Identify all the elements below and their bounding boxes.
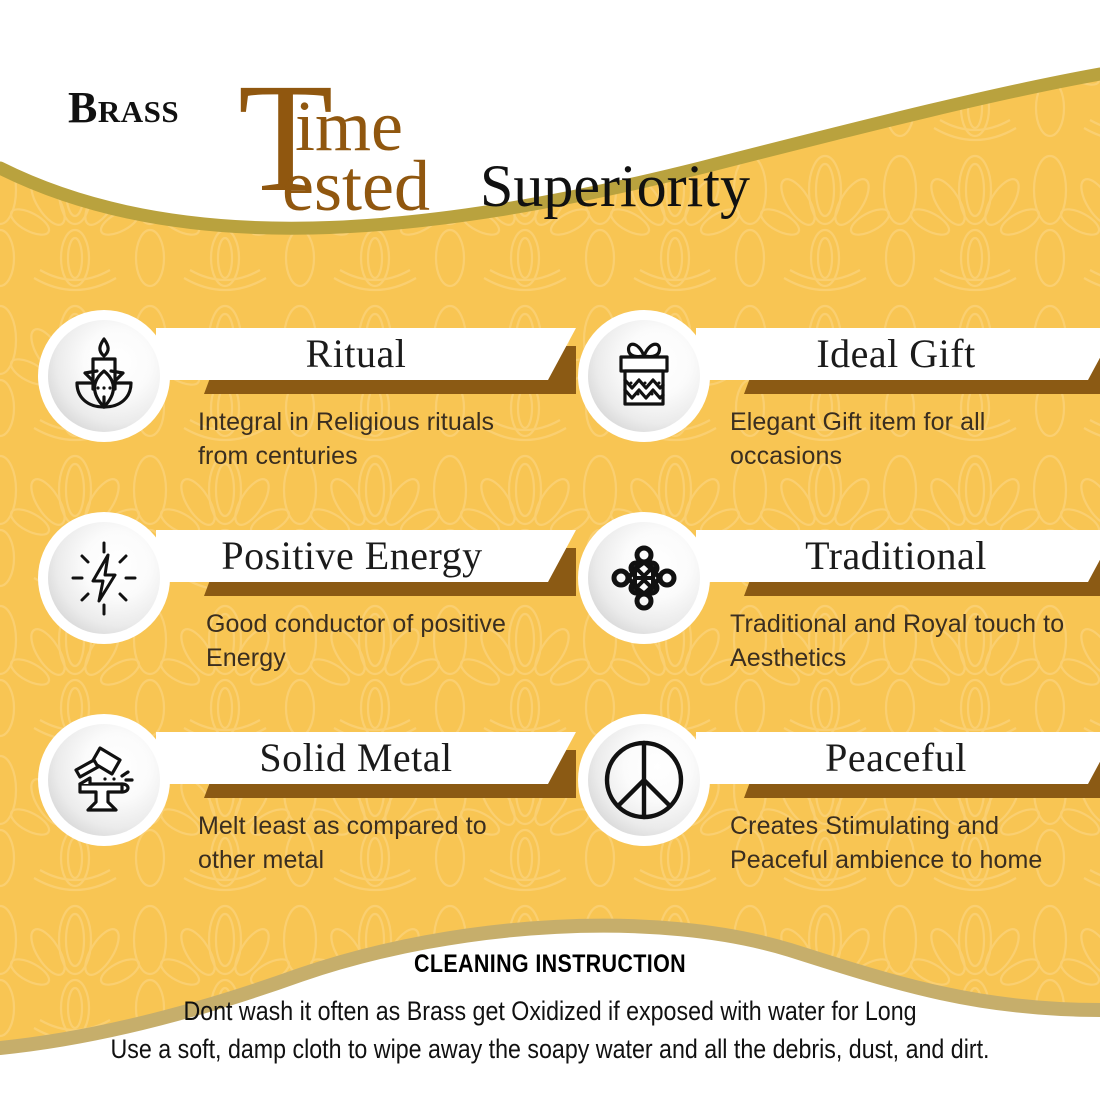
card-title: Positive Energy	[162, 528, 542, 582]
candle-lotus-icon	[48, 320, 160, 432]
banner-solid-metal: Solid Metal	[156, 732, 576, 806]
banner-traditional: Traditional	[696, 530, 1100, 604]
peace-symbol-icon	[588, 724, 700, 836]
title-word-brass: Brass	[68, 86, 179, 130]
endless-knot-icon	[588, 522, 700, 634]
card-title: Peaceful	[706, 730, 1086, 784]
cleaning-instruction-section: CLEANING INSTRUCTION Dont wash it often …	[0, 950, 1100, 1100]
lightning-bolt-icon	[48, 522, 160, 634]
cleaning-instruction-heading: CLEANING INSTRUCTION	[77, 950, 1023, 979]
banner-ritual: Ritual	[156, 328, 576, 402]
icon-badge	[578, 512, 710, 644]
icon-badge	[578, 310, 710, 442]
infographic-canvas: Brass T ime ested Superiority Ritual	[0, 0, 1100, 1100]
gift-box-icon	[588, 320, 700, 432]
hammer-anvil-icon	[48, 724, 160, 836]
card-description: Melt least as compared to other metal	[198, 810, 548, 877]
card-title: Ritual	[166, 326, 546, 380]
icon-badge	[38, 310, 170, 442]
card-description: Good conductor of positive Energy	[206, 608, 556, 675]
card-title: Solid Metal	[166, 730, 546, 784]
banner-ideal-gift: Ideal Gift	[696, 328, 1100, 402]
icon-badge	[38, 714, 170, 846]
banner-peaceful: Peaceful	[696, 732, 1100, 806]
card-description: Elegant Gift item for all occasions	[730, 406, 1080, 473]
page-header: Brass T ime ested Superiority	[0, 0, 1100, 185]
cleaning-instruction-line-1: Dont wash it often as Brass get Oxidized…	[77, 993, 1023, 1031]
icon-badge	[578, 714, 710, 846]
card-title: Traditional	[706, 528, 1086, 582]
card-description: Traditional and Royal touch to Aesthetic…	[730, 608, 1080, 675]
banner-positive-energy: Positive Energy	[156, 530, 576, 604]
card-description: Creates Stimulating and Peaceful ambienc…	[730, 810, 1080, 877]
cleaning-instruction-line-2: Use a soft, damp cloth to wipe away the …	[77, 1031, 1023, 1069]
page-title: Brass T ime ested Superiority	[60, 38, 780, 178]
title-word-superiority: Superiority	[480, 156, 750, 216]
card-title: Ideal Gift	[706, 326, 1086, 380]
title-word-tested: ested	[282, 150, 430, 222]
icon-badge	[38, 512, 170, 644]
card-description: Integral in Religious rituals from centu…	[198, 406, 548, 473]
